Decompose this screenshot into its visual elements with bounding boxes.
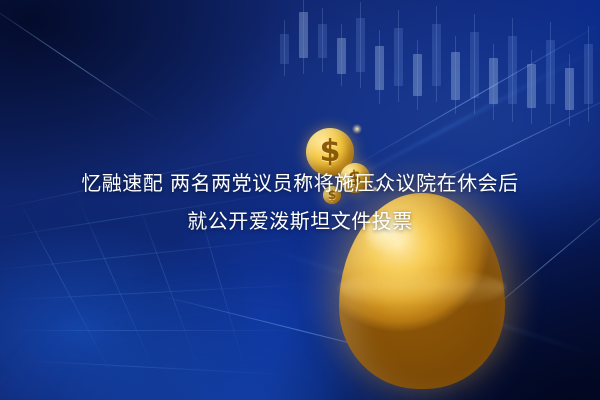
sparkle-dot <box>352 124 362 134</box>
article-thumbnail-image: $ $ $ 忆融速配 两名两党议员称将施压众议院在休会后 就公开爱泼斯坦文件投票 <box>0 0 600 400</box>
headline-line-1: 忆融速配 两名两党议员称将施压众议院在休会后 <box>81 164 518 202</box>
gold-egg-highlight-band <box>339 268 505 308</box>
headline-text: 忆融速配 两名两党议员称将施压众议院在休会后 就公开爱泼斯坦文件投票 <box>0 163 600 241</box>
headline-line-2: 就公开爱泼斯坦文件投票 <box>187 202 413 240</box>
